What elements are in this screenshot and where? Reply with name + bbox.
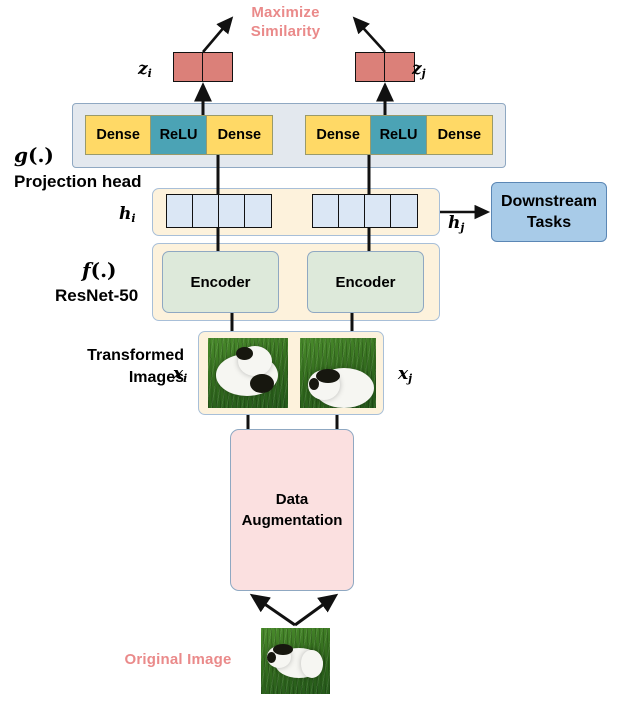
arrow-original-to-augmentation-left: [253, 596, 295, 625]
h-i-cell: [245, 195, 271, 227]
h-j-label: hj: [448, 213, 464, 234]
dog-tail: [301, 650, 323, 678]
z-j-label: zj: [412, 59, 426, 80]
maximize-similarity-line1: Maximize: [228, 3, 343, 22]
relu-layer-right: ReLU: [371, 116, 426, 154]
arrow-maximize-left: [203, 19, 231, 52]
z-j-vector: [355, 52, 415, 82]
z-i-label: zi: [138, 59, 152, 80]
h-j-vector: [312, 194, 418, 228]
dense-layer-right-2: Dense: [427, 116, 492, 154]
h-i-cell: [219, 195, 245, 227]
h-i-cell: [167, 195, 193, 227]
arrow-original-to-augmentation-right: [295, 596, 335, 625]
dog-dark-patch: [309, 378, 319, 390]
dense-layer-left-1: Dense: [86, 116, 151, 154]
relu-layer-left: ReLU: [151, 116, 206, 154]
resnet-caption: ResNet-50: [55, 286, 138, 305]
maximize-similarity-line2: Similarity: [228, 22, 343, 41]
maximize-similarity-label: Maximize Similarity: [228, 3, 343, 41]
z-i-cell: [203, 53, 232, 81]
encoder-right: Encoder: [307, 251, 424, 313]
h-j-cell: [339, 195, 365, 227]
g-function-label: g(.): [14, 143, 54, 167]
x-i-label: xi: [173, 364, 187, 385]
dense-layer-right-1: Dense: [306, 116, 371, 154]
z-j-cell: [385, 53, 414, 81]
data-augmentation-line2: Augmentation: [242, 510, 343, 531]
encoder-left: Encoder: [162, 251, 279, 313]
h-i-cell: [193, 195, 219, 227]
downstream-tasks-line2: Tasks: [501, 212, 597, 233]
h-j-cell: [391, 195, 417, 227]
transformed-images-line1: Transformed: [52, 345, 184, 367]
dog-dark-patch: [267, 652, 276, 663]
transformed-images-line2: Images: [52, 367, 184, 389]
transformed-image-xj: [300, 338, 376, 408]
data-augmentation-line1: Data: [242, 489, 343, 510]
transformed-images-caption: Transformed Images: [52, 345, 184, 389]
downstream-tasks-line1: Downstream: [501, 191, 597, 212]
h-i-label: hi: [119, 204, 136, 225]
h-i-vector: [166, 194, 272, 228]
projection-head-caption: Projection head: [14, 172, 142, 191]
projection-head-left: Dense ReLU Dense: [85, 115, 273, 155]
arrow-maximize-right: [355, 19, 385, 52]
downstream-tasks-box[interactable]: Downstream Tasks: [491, 182, 607, 242]
dense-layer-left-2: Dense: [207, 116, 272, 154]
dog-dark-patch: [250, 374, 274, 393]
z-i-cell: [174, 53, 203, 81]
dog-dark-patch: [236, 347, 253, 360]
data-augmentation-box: Data Augmentation: [230, 429, 354, 591]
transformed-image-xi: [208, 338, 288, 408]
original-image-label: Original Image: [108, 650, 248, 669]
h-j-cell: [365, 195, 391, 227]
projection-head-right: Dense ReLU Dense: [305, 115, 493, 155]
x-j-label: xj: [398, 364, 412, 385]
dog-dark-patch: [316, 369, 340, 383]
dog-dark-patch: [273, 644, 293, 655]
f-function-label: f(.): [82, 258, 117, 282]
diagram-canvas: Maximize Similarity zi zj Dense ReLU Den…: [0, 0, 622, 701]
h-j-cell: [313, 195, 339, 227]
original-image-photo: [261, 628, 330, 694]
z-i-vector: [173, 52, 233, 82]
z-j-cell: [356, 53, 385, 81]
